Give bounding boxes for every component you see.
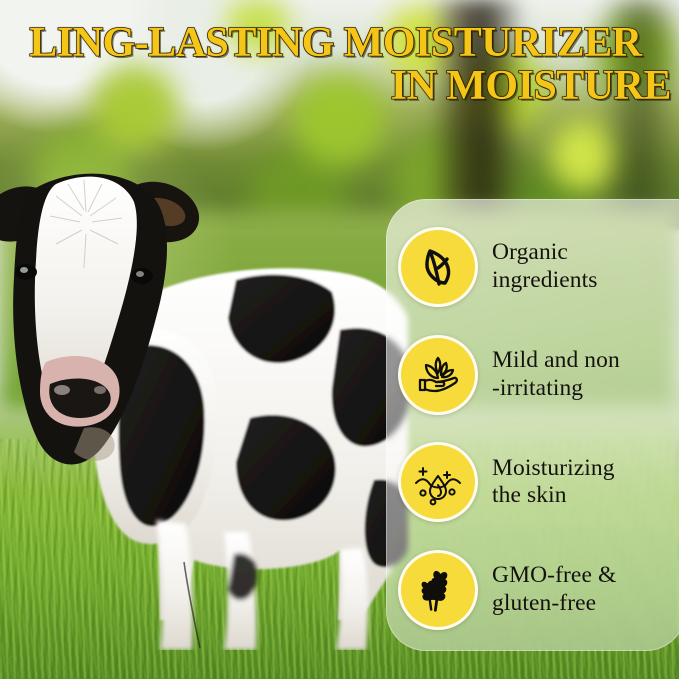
- water-droplet-skin-icon-badge: [398, 442, 478, 522]
- feature-label-line-2: gluten-free: [492, 590, 616, 618]
- hand-with-leaves-icon: [415, 352, 461, 398]
- wheat-icon-badge: [398, 550, 478, 630]
- leaf-icon-badge: [398, 227, 478, 307]
- feature-label-mild-non-irritating: Mild and non -irritating: [492, 347, 620, 402]
- feature-label-line-1: Mild and non: [492, 347, 620, 375]
- feature-item-organic-ingredients[interactable]: Organic ingredients: [398, 219, 679, 315]
- water-droplet-skin-icon: [414, 458, 462, 506]
- feature-label-line-2: ingredients: [492, 267, 598, 295]
- hand-with-leaves-icon-badge: [398, 335, 478, 415]
- feature-item-moisturizing-skin[interactable]: Moisturizing the skin: [398, 434, 679, 530]
- feature-label-line-1: Organic: [492, 239, 598, 267]
- feature-label-line-2: the skin: [492, 482, 615, 510]
- feature-label-line-2: -irritating: [492, 375, 620, 403]
- feature-label-organic-ingredients: Organic ingredients: [492, 239, 598, 294]
- cow-photo: [0, 150, 408, 650]
- feature-label-line-1: Moisturizing: [492, 455, 615, 483]
- feature-label-line-1: GMO-free &: [492, 562, 616, 590]
- feature-item-gmo-gluten-free[interactable]: GMO-free & gluten-free: [398, 542, 679, 638]
- feature-label-gmo-gluten-free: GMO-free & gluten-free: [492, 562, 616, 617]
- product-banner: LING-LASTING MOISTURIZER IN MOISTURE Org…: [0, 0, 679, 679]
- leaf-icon: [415, 244, 461, 290]
- feature-label-moisturizing-skin: Moisturizing the skin: [492, 455, 615, 510]
- feature-item-mild-non-irritating[interactable]: Mild and non -irritating: [398, 327, 679, 423]
- wheat-icon: [415, 567, 461, 613]
- feature-list: Organic ingredients: [398, 205, 679, 650]
